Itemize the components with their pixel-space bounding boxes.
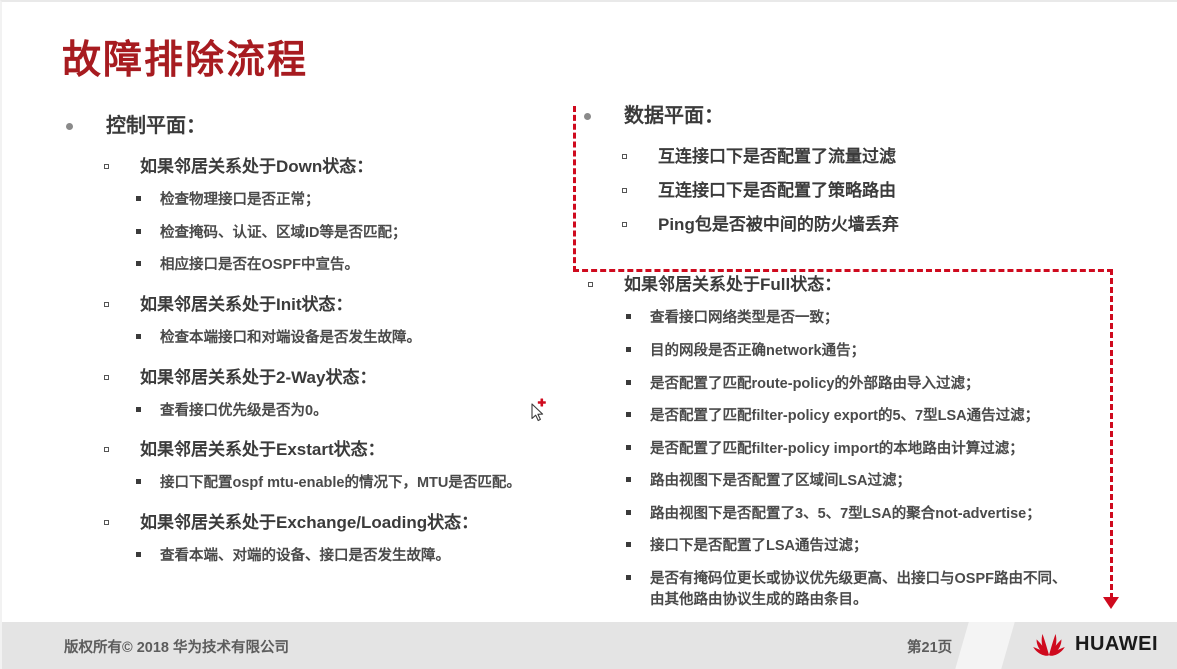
list-item: 如果邻居关系处于Init状态： [94,294,560,316]
list-item-label: 是否有掩码位更长或协议优先级更高、出接口与OSPF路由不同、由其他路由协议生成的… [650,571,1066,608]
list-item: 查看本端、对端的设备、接口是否发生故障。 [116,546,560,567]
footer-page-number: 第21页 [907,636,952,657]
control-plane-heading-label: 控制平面： [106,115,206,137]
bullet-square-filled-icon [136,229,141,234]
list-item: 是否配置了匹配filter-policy export的5、7型LSA通告过滤； [606,406,1138,427]
bullet-square-outline-icon [104,520,109,525]
list-item: 是否有掩码位更长或协议优先级更高、出接口与OSPF路由不同、由其他路由协议生成的… [606,569,1138,610]
list-item: 如果邻居关系处于Exstart状态： [94,439,560,461]
footer-divider [955,622,1014,669]
page-title: 故障排除流程 [62,29,308,85]
huawei-logo: HUAWEI [1032,630,1158,658]
list-item-label: 查看接口网络类型是否一致； [650,310,839,326]
presentation-slide: 故障排除流程 控制平面： 如果邻居关系处于Down状态： 检查物理接口是否正常； [0,0,1177,669]
huawei-flower-icon [1032,630,1066,658]
bullet-square-outline-icon [104,447,109,452]
list-item: 接口下配置ospf mtu-enable的情况下，MTU是否匹配。 [116,473,560,494]
bullet-square-filled-icon [626,477,631,482]
list-item-label: 相应接口是否在OSPF中宣告。 [160,257,359,273]
bullet-square-filled-icon [626,412,631,417]
list-item-label: 互连接口下是否配置了流量过滤 [658,147,896,166]
control-plane-column: 控制平面： 如果邻居关系处于Down状态： 检查物理接口是否正常； 检查掩码、认… [60,114,560,579]
list-item: 如果邻居关系处于2-Way状态： [94,367,560,389]
bullet-square-outline-icon [622,222,627,227]
list-item: 互连接口下是否配置了策略路由 [612,180,1138,202]
data-plane-heading: 数据平面： [578,104,1138,129]
footer-copyright: 版权所有© 2018 华为技术有限公司 [64,636,289,657]
sub-list: 查看接口优先级是否为0。 [116,401,560,422]
bullet-square-filled-icon [626,314,631,319]
data-plane-heading-label: 数据平面： [624,105,724,127]
list-item: 如果邻居关系处于Down状态： [94,156,560,178]
list-item-label: 互连接口下是否配置了策略路由 [658,181,896,200]
bullet-square-outline-icon [104,375,109,380]
bullet-square-filled-icon [136,407,141,412]
bullet-square-outline-icon [588,282,593,287]
list-item: 目的网段是否正确network通告； [606,341,1138,362]
list-item: 路由视图下是否配置了区域间LSA过滤； [606,471,1138,492]
list-item: 查看接口优先级是否为0。 [116,401,560,422]
mouse-cursor-icon [526,398,552,424]
callout-dashed-left-edge [573,106,576,272]
bullet-dot-icon [584,113,591,120]
sub-list: 检查本端接口和对端设备是否发生故障。 [116,328,560,349]
bullet-square-filled-icon [626,575,631,580]
control-plane-heading: 控制平面： [60,114,560,139]
list-item: 相应接口是否在OSPF中宣告。 [116,255,560,276]
bullet-square-filled-icon [626,380,631,385]
bullet-square-filled-icon [136,261,141,266]
bullet-square-filled-icon [136,334,141,339]
list-item-label: 检查物理接口是否正常； [160,192,320,208]
data-plane-items: 互连接口下是否配置了流量过滤 互连接口下是否配置了策略路由 Ping包是否被中间… [612,146,1138,236]
bullet-square-filled-icon [136,479,141,484]
control-plane-groups: 如果邻居关系处于Down状态： 检查物理接口是否正常； 检查掩码、认证、区域ID… [94,156,560,567]
bullet-square-filled-icon [626,542,631,547]
list-item: 是否配置了匹配filter-policy import的本地路由计算过滤； [606,439,1138,460]
list-item-label: 查看接口优先级是否为0。 [160,403,328,419]
slide-footer: 版权所有© 2018 华为技术有限公司 第21页 HUAWEI [2,622,1177,669]
data-plane-column: 数据平面： 互连接口下是否配置了流量过滤 互连接口下是否配置了策略路由 Ping… [578,104,1138,622]
sub-list: 查看本端、对端的设备、接口是否发生故障。 [116,546,560,567]
list-item: 检查物理接口是否正常； [116,190,560,211]
list-item: Ping包是否被中间的防火墙丢弃 [612,214,1138,236]
full-state-sub-list: 查看接口网络类型是否一致； 目的网段是否正确network通告； 是否配置了匹配… [606,308,1138,610]
list-item: 如果邻居关系处于Exchange/Loading状态： [94,512,560,534]
bullet-square-filled-icon [136,552,141,557]
list-item-label: 是否配置了匹配filter-policy export的5、7型LSA通告过滤； [650,408,1039,424]
list-item: 查看接口网络类型是否一致； [606,308,1138,329]
bullet-square-outline-icon [622,188,627,193]
list-item-label: Ping包是否被中间的防火墙丢弃 [658,215,899,234]
list-item-label: 接口下配置ospf mtu-enable的情况下，MTU是否匹配。 [160,475,521,491]
list-item-label: 接口下是否配置了LSA通告过滤； [650,538,868,554]
list-item-label: 如果邻居关系处于Exstart状态： [140,440,385,459]
bullet-square-filled-icon [626,347,631,352]
bullet-square-filled-icon [136,196,141,201]
sub-list: 接口下配置ospf mtu-enable的情况下，MTU是否匹配。 [116,473,560,494]
list-item: 检查掩码、认证、区域ID等是否匹配； [116,223,560,244]
list-item-label: 路由视图下是否配置了区域间LSA过滤； [650,473,911,489]
list-item-label: 查看本端、对端的设备、接口是否发生故障。 [160,548,450,564]
bullet-dot-icon [66,123,73,130]
bullet-square-filled-icon [626,445,631,450]
list-item-label: 如果邻居关系处于Exchange/Loading状态： [140,513,478,532]
list-item-label: 如果邻居关系处于2-Way状态： [140,368,376,387]
list-item-label: 如果邻居关系处于Full状态： [624,275,841,294]
list-item-label: 是否配置了匹配filter-policy import的本地路由计算过滤； [650,441,1024,457]
list-item: 互连接口下是否配置了流量过滤 [612,146,1138,168]
list-item-label: 是否配置了匹配route-policy的外部路由导入过滤； [650,376,979,392]
bullet-square-outline-icon [104,302,109,307]
bullet-square-outline-icon [622,154,627,159]
huawei-wordmark: HUAWEI [1075,633,1158,656]
list-item-label: 如果邻居关系处于Down状态： [140,157,373,176]
list-item: 路由视图下是否配置了3、5、7型LSA的聚合not-advertise； [606,504,1138,525]
list-item: 如果邻居关系处于Full状态： [578,274,1138,296]
list-item: 检查本端接口和对端设备是否发生故障。 [116,328,560,349]
list-item: 接口下是否配置了LSA通告过滤； [606,536,1138,557]
list-item-label: 检查掩码、认证、区域ID等是否匹配； [160,225,407,241]
list-item: 是否配置了匹配route-policy的外部路由导入过滤； [606,374,1138,395]
sub-list: 检查物理接口是否正常； 检查掩码、认证、区域ID等是否匹配； 相应接口是否在OS… [116,190,560,276]
bullet-square-filled-icon [626,510,631,515]
list-item-label: 如果邻居关系处于Init状态： [140,295,353,314]
list-item-label: 目的网段是否正确network通告； [650,343,865,359]
list-item-label: 路由视图下是否配置了3、5、7型LSA的聚合not-advertise； [650,506,1041,522]
bullet-square-outline-icon [104,164,109,169]
list-item-label: 检查本端接口和对端设备是否发生故障。 [160,330,421,346]
